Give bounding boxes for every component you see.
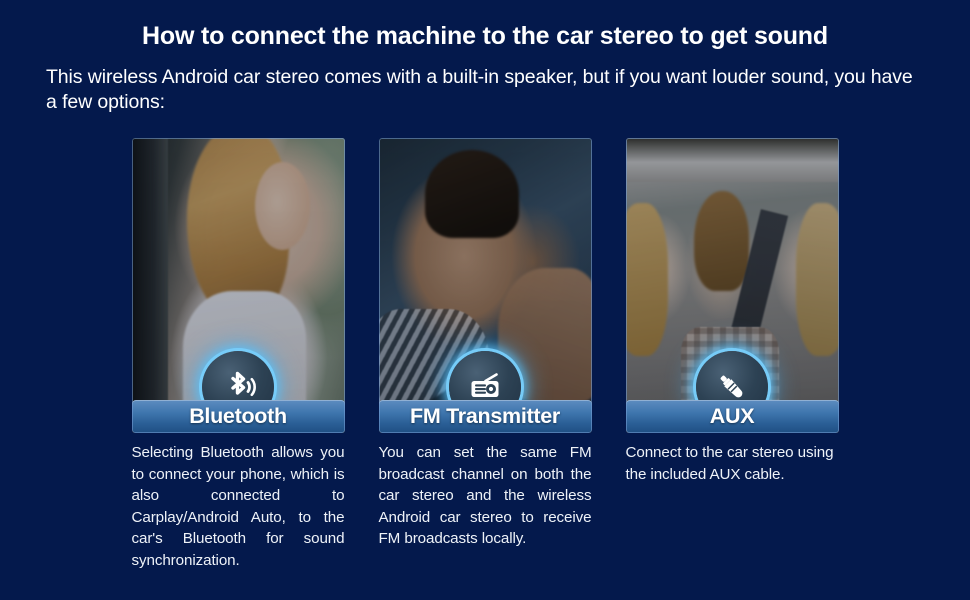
option-card-aux: AUX Connect to the car stereo using the …	[626, 138, 839, 571]
option-cards-row: Bluetooth Selecting Bluetooth allows you…	[0, 138, 970, 571]
card-label-bar-aux: AUX	[626, 400, 839, 433]
card-caption-aux: Connect to the car stereo using the incl…	[626, 442, 839, 485]
page-title: How to connect the machine to the car st…	[0, 0, 970, 51]
infographic-page: How to connect the machine to the car st…	[0, 0, 970, 600]
card-caption-fm-transmitter: You can set the same FM broadcast channe…	[379, 442, 592, 550]
card-photo-fm-transmitter: FM Transmitter	[379, 138, 592, 433]
page-subtitle: This wireless Android car stereo comes w…	[0, 51, 970, 116]
card-label-bar-bluetooth: Bluetooth	[132, 400, 345, 433]
option-card-bluetooth: Bluetooth Selecting Bluetooth allows you…	[132, 138, 345, 571]
card-caption-bluetooth: Selecting Bluetooth allows you to connec…	[132, 442, 345, 571]
card-photo-bluetooth: Bluetooth	[132, 138, 345, 433]
card-photo-aux: AUX	[626, 138, 839, 433]
card-label-text: AUX	[710, 404, 755, 429]
card-label-text: Bluetooth	[189, 404, 287, 429]
option-card-fm-transmitter: FM Transmitter You can set the same FM b…	[379, 138, 592, 571]
card-label-bar-fm-transmitter: FM Transmitter	[379, 400, 592, 433]
card-label-text: FM Transmitter	[410, 404, 560, 429]
